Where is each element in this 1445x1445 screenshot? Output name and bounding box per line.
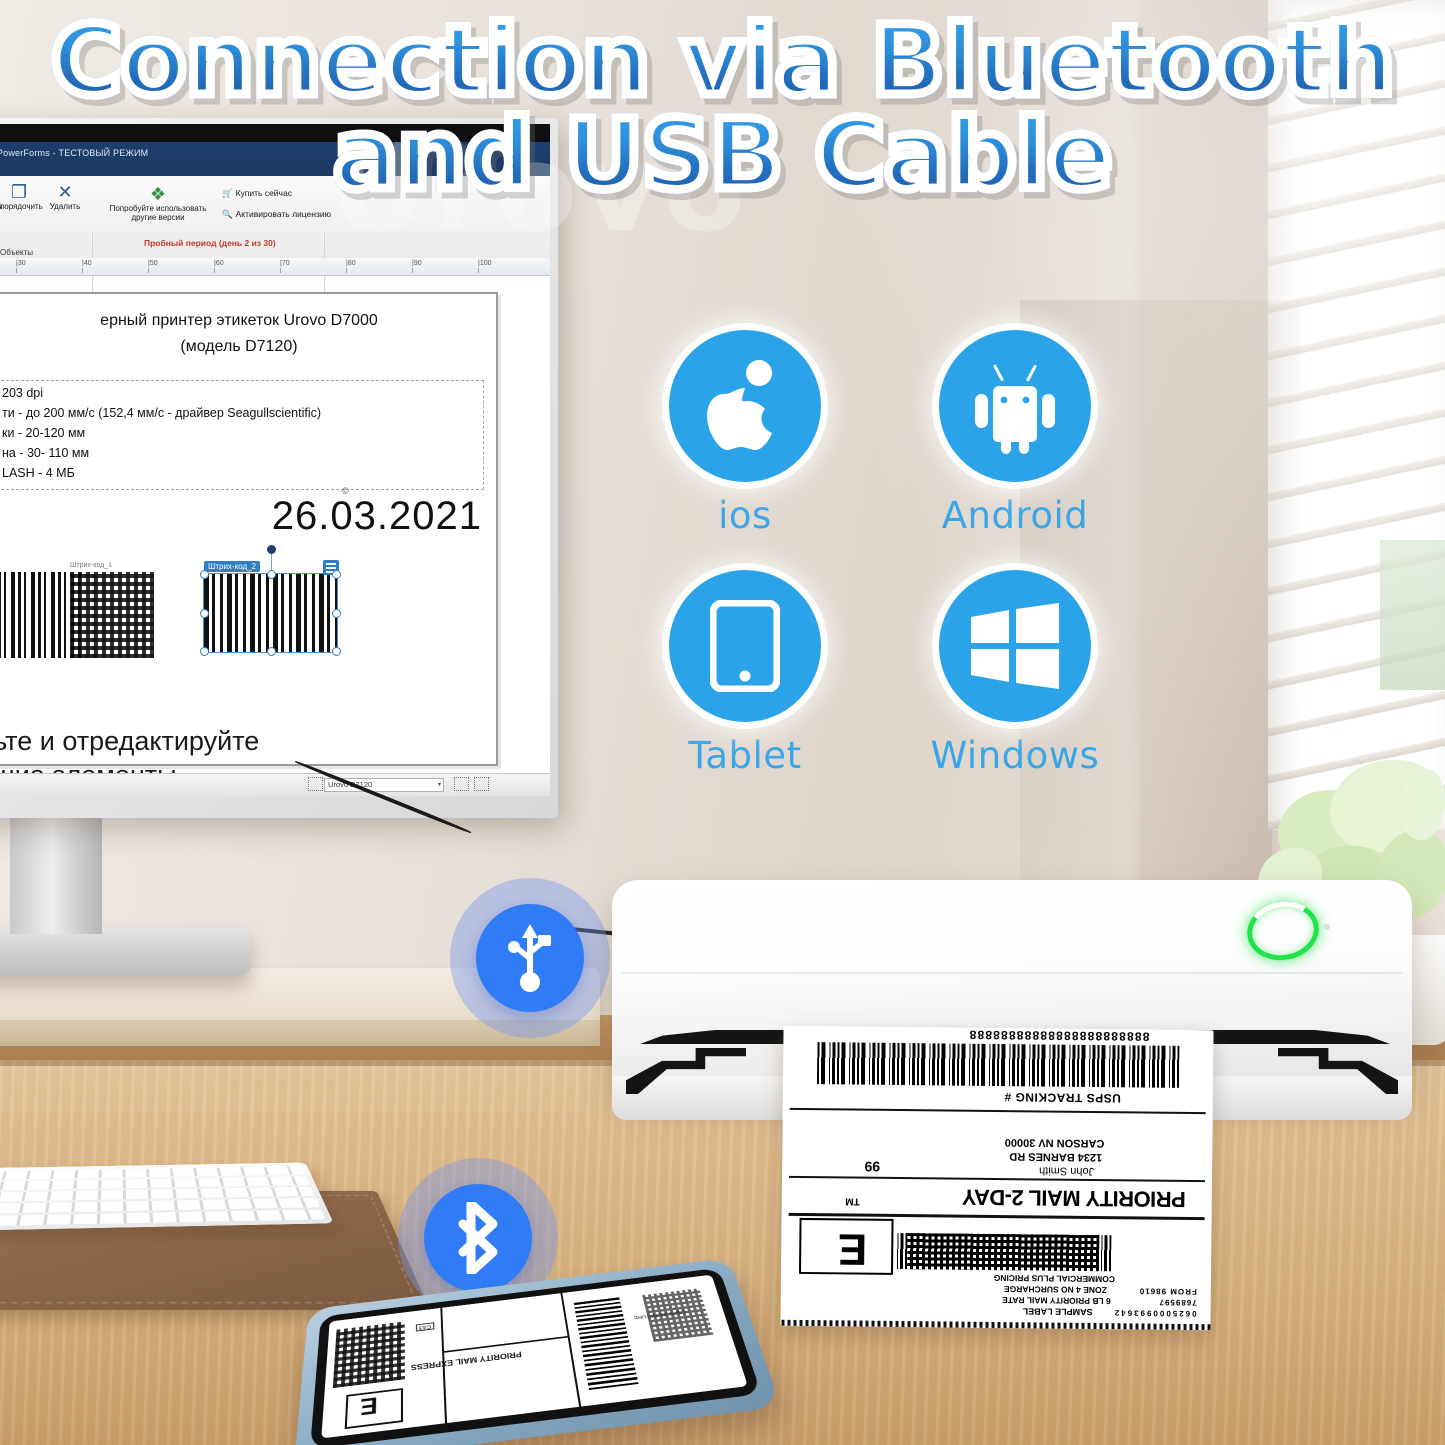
os-label-ios: ios xyxy=(620,494,870,537)
label-title-line2: (модель D7120) xyxy=(0,338,496,356)
label-title-line1: ерный принтер этикеток Urovo D7000 xyxy=(0,312,496,330)
os-item-android[interactable]: Android xyxy=(890,330,1140,580)
fit-page-icon[interactable] xyxy=(454,777,469,791)
label-footer-3: ZONE 4 NO SURCHARGE xyxy=(1004,1284,1107,1295)
usb-badge-core xyxy=(476,904,584,1012)
fit-width-icon[interactable] xyxy=(474,777,489,791)
status-dot xyxy=(1324,924,1330,930)
label-meta-serial: 0625000993642 xyxy=(1113,1308,1197,1318)
rotate-handle[interactable] xyxy=(271,552,272,572)
label-service-tm: TM xyxy=(845,1195,860,1206)
label-datamatrix xyxy=(907,1233,1099,1271)
label-guard-bar-right xyxy=(895,1233,907,1269)
bluetooth-icon xyxy=(453,1202,503,1274)
selected-barcode-object[interactable]: Штрих-код_2 xyxy=(204,574,337,652)
bluetooth-badge-core xyxy=(424,1184,532,1292)
objects-group-caption: Объекты xyxy=(0,248,33,257)
activate-license-label: Активировать лицензию xyxy=(236,209,331,219)
phone-label-class-letter: E xyxy=(360,1393,378,1420)
os-label-windows: Windows xyxy=(890,734,1140,777)
os-support-grid: ios xyxy=(620,330,1140,830)
label-tracking-caption: USPS TRACKING # xyxy=(1004,1090,1121,1105)
label-recipient-city: CARSON NV 30000 xyxy=(1005,1136,1105,1149)
label-spec-5: LASH - 4 МБ xyxy=(2,466,75,480)
android-icon-circle xyxy=(939,330,1091,482)
label-footer-2: 6 LB PRIORITY MAIL RATE xyxy=(1002,1295,1111,1306)
printer-icon xyxy=(308,777,323,791)
label-design-canvas[interactable]: ерный принтер этикеток Urovo D7000 (моде… xyxy=(0,292,498,766)
chevron-down-icon: ▾ xyxy=(438,781,441,788)
barcode-2 xyxy=(204,574,337,652)
printer-lid-seam xyxy=(622,972,1402,974)
printed-shipping-label: 0625000993642 7689597 FROM 98610 SAMPLE … xyxy=(780,1026,1213,1330)
label-spec-1: 203 dpi xyxy=(2,386,43,400)
product-marketing-scene: yner - PowerForms - ТЕСТОВЫЙ РЕЖИМ ⬚ Объ… xyxy=(0,0,1445,1445)
os-item-windows[interactable]: Windows xyxy=(890,570,1140,820)
app-statusbar: Urovo D7120 ▾ xyxy=(0,773,550,796)
headline-line-2: and USB Cable xyxy=(0,108,1445,202)
tablet-icon xyxy=(710,600,780,692)
other-versions-label: Попробуйте использовать другие версии xyxy=(110,204,207,222)
monitor-stand-base xyxy=(0,928,250,976)
activate-license-button[interactable]: 🔍Активировать лицензию xyxy=(222,209,331,220)
usb-icon xyxy=(501,922,559,994)
label-recipient-street: 1234 BARNES RD xyxy=(1009,1150,1102,1163)
os-item-ios[interactable]: ios xyxy=(620,330,870,580)
phone-label-qr xyxy=(333,1321,405,1388)
tablet-icon-circle xyxy=(669,570,821,722)
label-class-letter: E xyxy=(838,1224,868,1272)
phone-label-barcode xyxy=(574,1297,639,1390)
trial-period-notice: Пробный период (день 2 из 30) xyxy=(144,238,276,248)
canvas-ruler: |30 |40 |50 |60 |70 |80 |90 |100 xyxy=(0,258,550,276)
page-title: Connection via Bluetooth and USB Cable xyxy=(0,14,1445,202)
os-item-tablet[interactable]: Tablet xyxy=(620,570,870,820)
label-spec-3: ки - 20-120 мм xyxy=(2,426,85,440)
key-icon: 🔍 xyxy=(222,209,233,219)
phone-label-service: PRIORITY MAIL EXPRESS xyxy=(411,1350,522,1372)
monitor-stand-neck xyxy=(10,816,102,934)
label-meta-from: FROM 98610 xyxy=(1139,1286,1197,1296)
headline-line-1: Connection via Bluetooth xyxy=(0,14,1445,108)
zoom-out-icon[interactable] xyxy=(496,779,509,791)
label-guard-bar-left xyxy=(1099,1235,1111,1271)
android-icon xyxy=(967,358,1063,454)
phone-label-datamatrix xyxy=(642,1288,713,1342)
windows-icon-circle xyxy=(939,570,1091,722)
apple-icon xyxy=(702,358,788,454)
arrange-label: Упорядочить xyxy=(0,202,43,211)
screen-bottom-text-1: обавьте и отредактируйте xyxy=(0,726,259,757)
label-meta-code: 7689597 xyxy=(1159,1298,1197,1307)
label-tracking-digits: 88888888888888888888888 xyxy=(968,1028,1149,1044)
keyboard[interactable] xyxy=(0,1162,334,1230)
label-service-name: PRIORITY MAIL 2-DAY xyxy=(962,1184,1186,1212)
windows-icon xyxy=(969,603,1061,689)
label-printer[interactable]: 0625000993642 7689597 FROM 98610 SAMPLE … xyxy=(612,880,1412,1120)
label-weight-box: 99 xyxy=(864,1159,880,1175)
selected-object-tag: Штрих-код_2 xyxy=(204,561,260,572)
delete-label: Удалить xyxy=(50,202,81,211)
label-footer-1: SAMPLE LABEL xyxy=(1023,1306,1093,1317)
label-tracking-barcode xyxy=(817,1042,1179,1088)
label-spec-2: ти - до 200 мм/с (152,4 мм/с - драйвер S… xyxy=(2,406,321,420)
os-label-tablet: Tablet xyxy=(620,734,870,777)
apple-icon-circle xyxy=(669,330,821,482)
os-label-android: Android xyxy=(890,494,1140,537)
label-date-field[interactable]: 26.03.2021 xyxy=(162,494,482,539)
usb-connection-badge[interactable] xyxy=(450,878,610,1038)
label-recipient-name: John Smith xyxy=(1039,1164,1094,1177)
qr-code[interactable] xyxy=(70,572,154,658)
qr-caption: Штрих-код_1 xyxy=(70,562,112,569)
label-spec-4: на - 30- 110 мм xyxy=(2,446,89,460)
phone-label-badge: C43 xyxy=(416,1322,434,1331)
label-footer-4: COMMERCIAL PLUS PRICING xyxy=(994,1273,1115,1284)
